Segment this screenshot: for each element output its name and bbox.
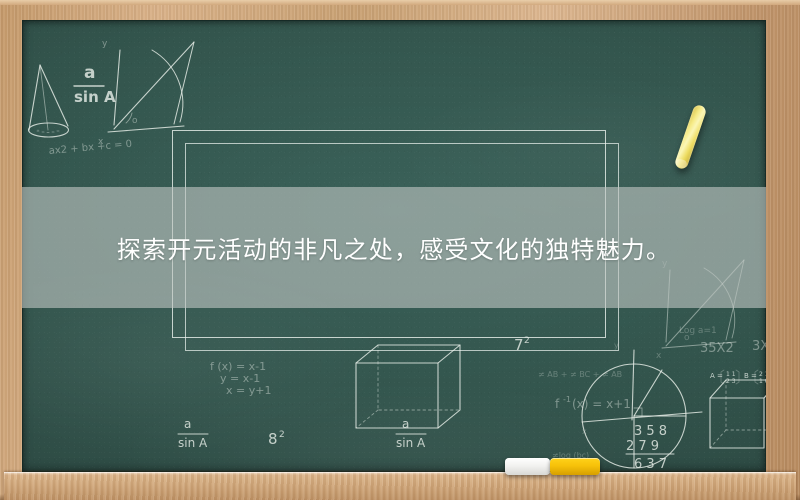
blackboard-banner: a sin A ax2 + bx +c = 0 y x o	[0, 0, 800, 500]
headline-band: 探索开元活动的非凡之处，感受文化的独特魅力。	[22, 187, 766, 308]
chalkboard-surface: a sin A ax2 + bx +c = 0 y x o	[22, 20, 766, 472]
ledge-lip	[4, 472, 796, 475]
frame-top-highlight	[0, 0, 800, 5]
headline-text: 探索开元活动的非凡之处，感受文化的独特魅力。	[117, 230, 671, 265]
yellow-eraser-icon	[550, 458, 600, 475]
white-eraser-icon	[505, 458, 550, 475]
chalk-ledge	[4, 472, 796, 500]
